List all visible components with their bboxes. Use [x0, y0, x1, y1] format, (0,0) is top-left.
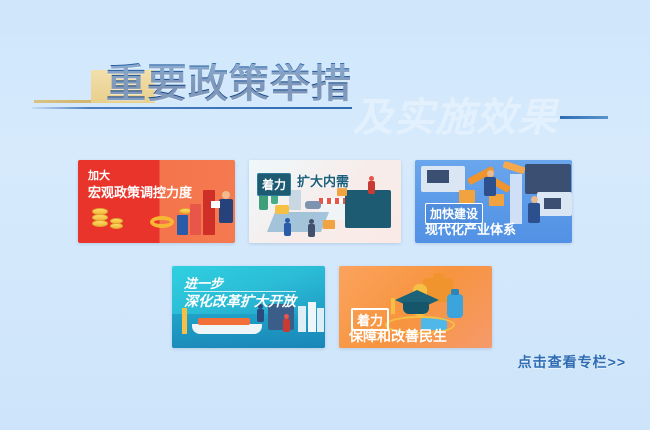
coin-icon: [110, 223, 123, 229]
machine-screen: [427, 170, 449, 183]
card2-label-top: 着力: [257, 173, 291, 196]
person-body: [368, 181, 375, 194]
person-body: [219, 199, 233, 223]
awning-stripes: [319, 198, 345, 204]
bar-chart-bar: [203, 190, 215, 235]
person-body: [283, 319, 290, 332]
person-body: [484, 177, 496, 196]
clipboard-icon: [211, 201, 220, 208]
bar-chart-bar: [177, 215, 188, 235]
parcel-box: [459, 190, 475, 203]
crane-post: [182, 308, 187, 334]
card3-label-top: 加快建设: [425, 203, 483, 224]
donut-icon: [150, 216, 174, 228]
policy-card-domestic-demand[interactable]: 着力 扩大内需: [249, 160, 401, 243]
card4-label-divider: [184, 291, 296, 292]
card5-label-main: 保障和改善民生: [349, 328, 447, 346]
graduation-tassel: [391, 298, 395, 314]
bar-chart-bar: [190, 204, 201, 235]
person-body: [257, 309, 264, 322]
car-icon: [275, 205, 289, 214]
person-head: [531, 196, 538, 203]
card3-label-main: 现代化产业体系: [425, 222, 516, 238]
water-bottle: [447, 294, 463, 318]
policy-card-reform-opening[interactable]: 进一步 深化改革扩大开放: [172, 266, 325, 348]
building-shape: [345, 190, 391, 228]
card1-label-top: 加大: [88, 170, 110, 184]
person-body: [528, 203, 540, 223]
bottle-cap: [451, 289, 459, 295]
graduation-cap-base: [403, 302, 429, 314]
conveyor-post: [510, 174, 522, 224]
building-shape: [317, 308, 324, 332]
person-head: [222, 191, 230, 199]
machine-shape: [525, 164, 571, 194]
machine-screen: [544, 198, 561, 209]
policy-card-livelihood[interactable]: 着力 保障和改善民生: [339, 266, 492, 348]
robot-arm: [502, 161, 525, 174]
briefcase-handle: [433, 273, 444, 281]
person-body: [308, 224, 315, 237]
policy-card-macro-policy[interactable]: 加大 宏观政策调控力度: [78, 160, 235, 243]
building-shape: [298, 306, 306, 332]
road-shape: [267, 212, 329, 232]
person-head: [487, 170, 494, 177]
card4-label-main: 深化改革扩大开放: [184, 293, 296, 311]
building-shape: [308, 302, 316, 332]
card4-label-top: 进一步: [184, 276, 223, 292]
person-body: [284, 223, 291, 236]
car-icon: [305, 201, 321, 209]
ship-hull: [192, 324, 262, 334]
view-column-link[interactable]: 点击查看专栏>>: [518, 352, 626, 372]
ship-cargo: [198, 318, 250, 325]
card2-label-main: 扩大内需: [297, 174, 349, 190]
parcel-box: [323, 220, 335, 229]
policy-card-industrial-system[interactable]: 加快建设 现代化产业体系: [415, 160, 572, 243]
coin-icon: [92, 220, 108, 227]
tree-icon: [259, 194, 268, 210]
card1-label-main: 宏观政策调控力度: [88, 185, 192, 201]
